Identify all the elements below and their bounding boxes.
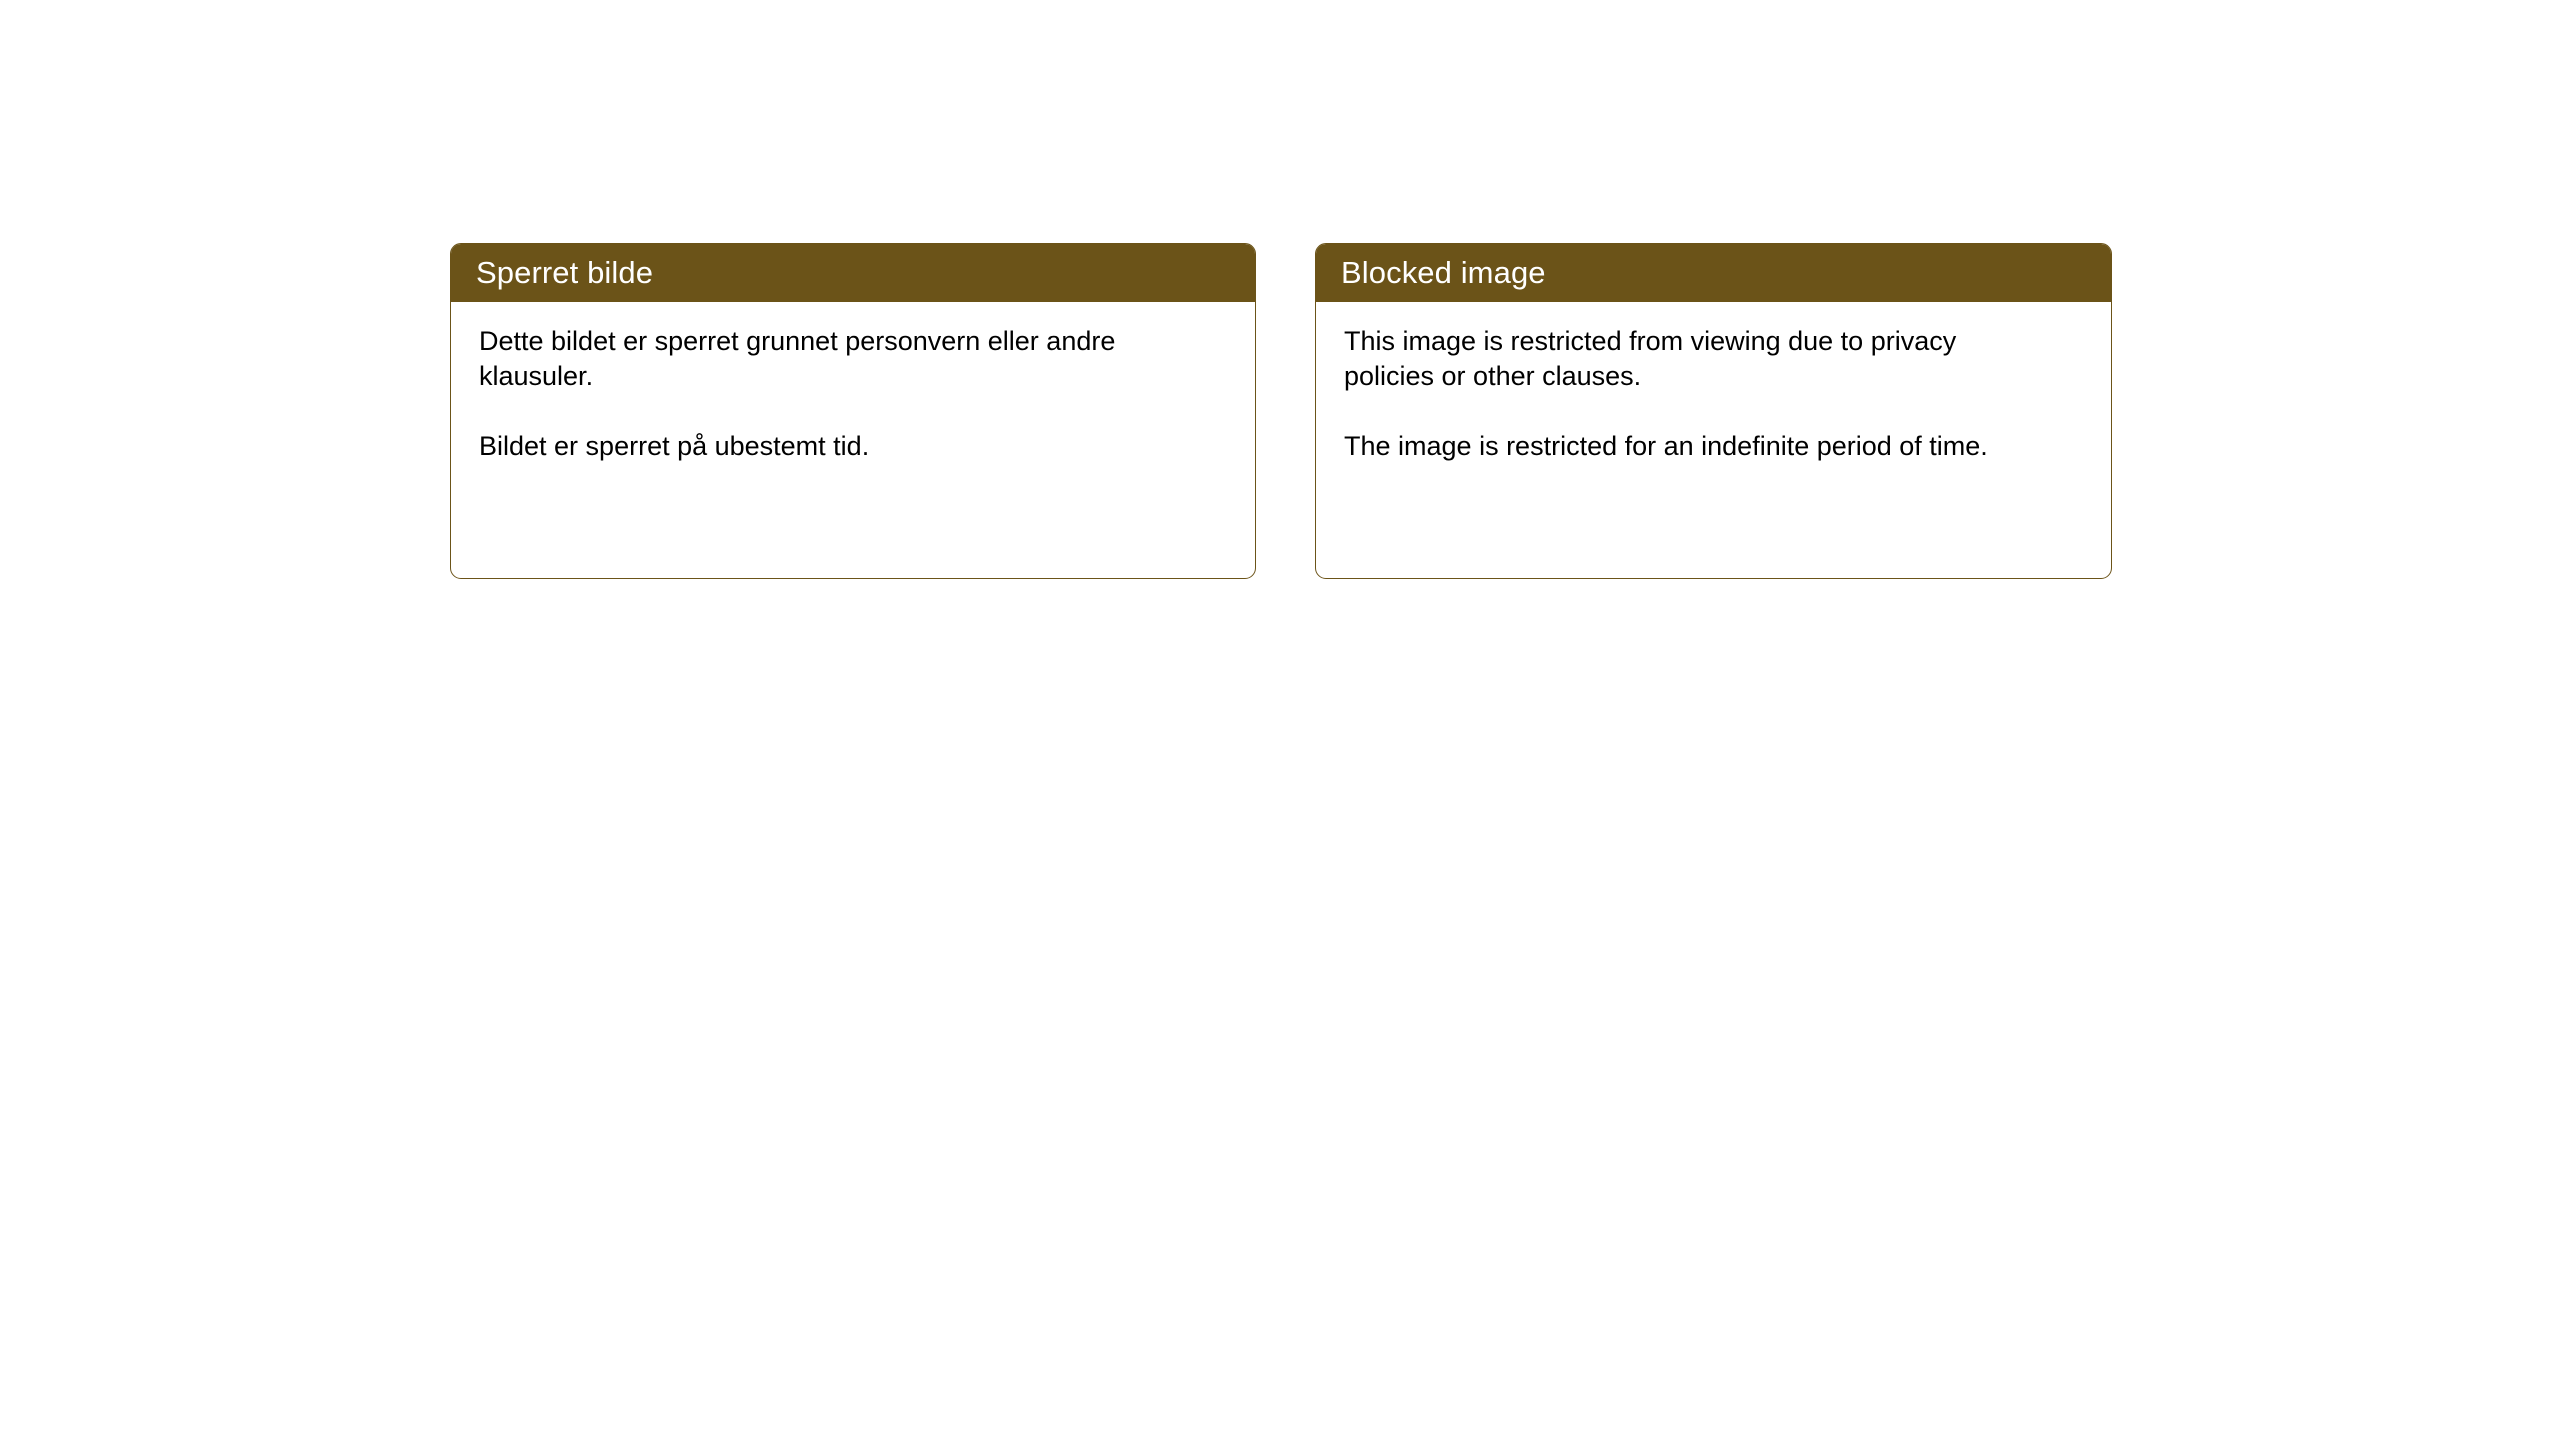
- blocked-image-notices: Sperret bilde Dette bildet er sperret gr…: [0, 0, 2560, 1440]
- card-body-english: This image is restricted from viewing du…: [1316, 302, 2111, 464]
- card-paragraph-reason-norwegian: Dette bildet er sperret grunnet personve…: [479, 324, 1179, 394]
- card-paragraph-duration-norwegian: Bildet er sperret på ubestemt tid.: [479, 429, 1179, 464]
- blocked-image-card-english: Blocked image This image is restricted f…: [1315, 243, 2112, 579]
- card-body-norwegian: Dette bildet er sperret grunnet personve…: [451, 302, 1255, 464]
- blocked-image-card-norwegian: Sperret bilde Dette bildet er sperret gr…: [450, 243, 1256, 579]
- card-header-norwegian: Sperret bilde: [450, 243, 1256, 302]
- card-paragraph-duration-english: The image is restricted for an indefinit…: [1344, 429, 2034, 464]
- card-title-english: Blocked image: [1341, 257, 1546, 288]
- card-title-norwegian: Sperret bilde: [476, 257, 653, 288]
- card-paragraph-reason-english: This image is restricted from viewing du…: [1344, 324, 2034, 394]
- card-header-english: Blocked image: [1315, 243, 2112, 302]
